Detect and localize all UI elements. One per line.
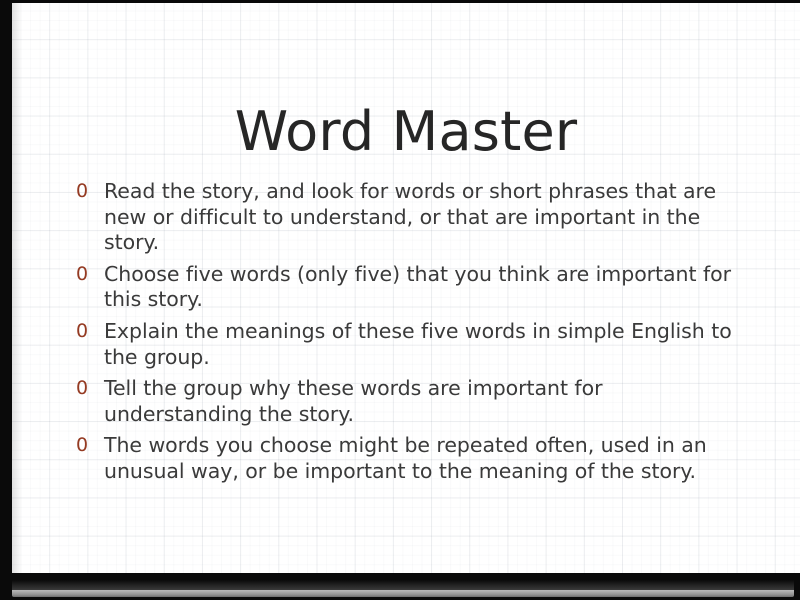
list-item-text: The words you choose might be repeated o… [104, 433, 746, 484]
list-item-text: Explain the meanings of these five words… [104, 319, 746, 370]
bullet-marker-icon: 0 [76, 262, 88, 288]
slide-left-edge-shading [12, 3, 22, 573]
list-item: 0 The words you choose might be repeated… [74, 433, 746, 484]
slide-canvas: Word Master 0 Read the story, and look f… [12, 3, 800, 573]
list-item-text: Choose five words (only five) that you t… [104, 262, 746, 313]
bullet-marker-icon: 0 [76, 376, 88, 402]
slide-bottom-soft-shadow [12, 580, 794, 590]
list-item: 0 Explain the meanings of these five wor… [74, 319, 746, 370]
bullet-marker-icon: 0 [76, 433, 88, 459]
list-item-text: Read the story, and look for words or sh… [104, 179, 746, 256]
list-item: 0 Choose five words (only five) that you… [74, 262, 746, 313]
bullet-list: 0 Read the story, and look for words or … [74, 179, 746, 485]
list-item: 0 Tell the group why these words are imp… [74, 376, 746, 427]
slide-frame: Word Master 0 Read the story, and look f… [0, 0, 800, 600]
slide-title: Word Master [12, 101, 800, 163]
list-item: 0 Read the story, and look for words or … [74, 179, 746, 256]
list-item-text: Tell the group why these words are impor… [104, 376, 746, 427]
bullet-marker-icon: 0 [76, 319, 88, 345]
slide-bottom-shadow [12, 590, 794, 597]
bullet-marker-icon: 0 [76, 179, 88, 205]
